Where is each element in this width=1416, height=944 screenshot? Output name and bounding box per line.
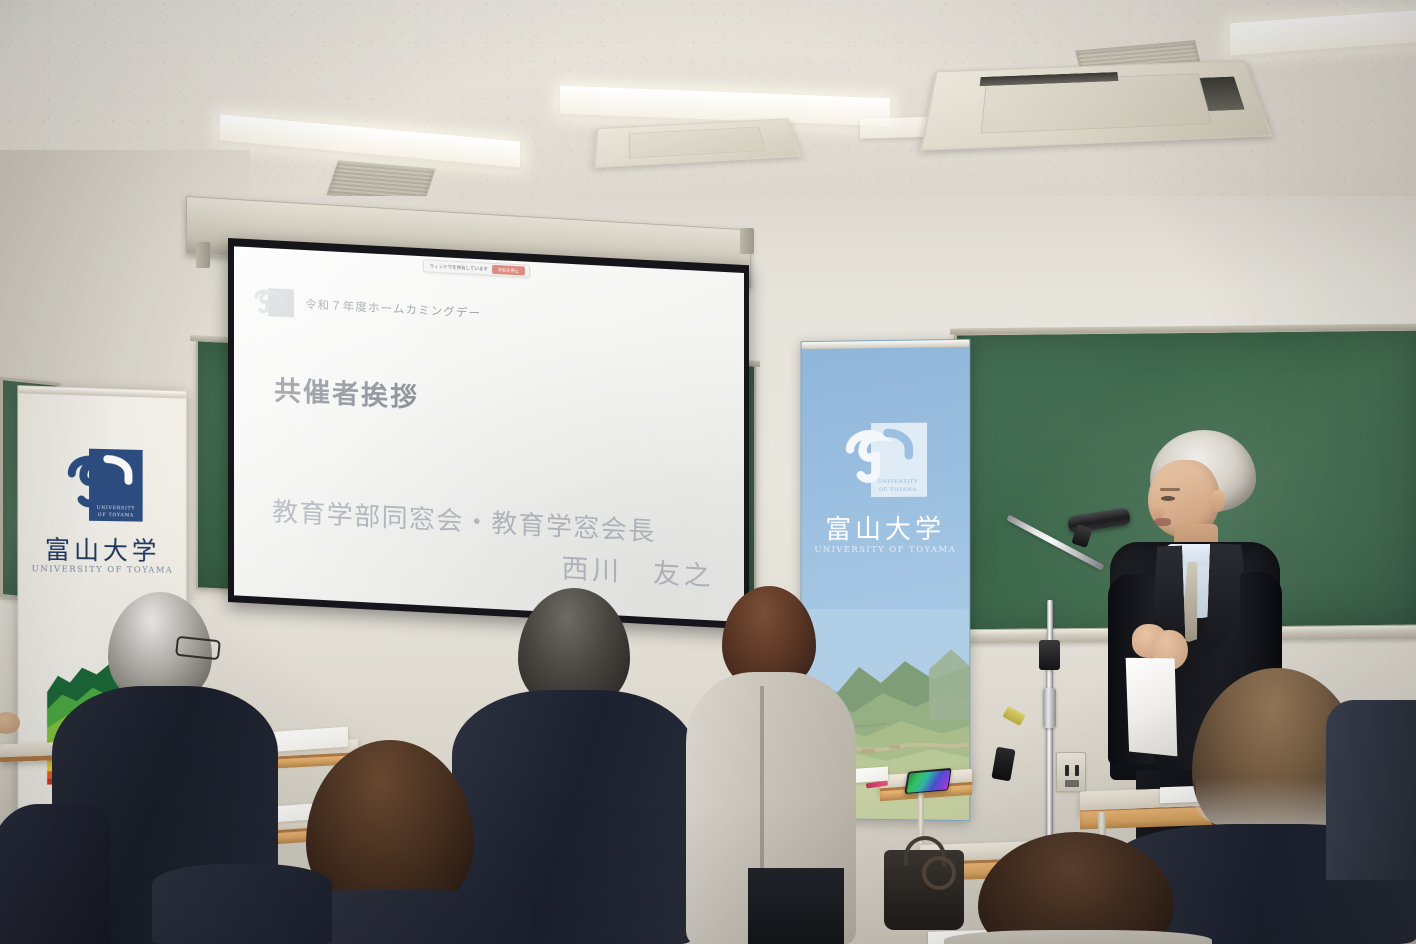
lecture-room-photo: ウィンドウを共有しています 共有を停止 令和７年度ホームカミングデー 共催者挨拶… [0, 0, 1416, 944]
audience-body-8 [152, 864, 332, 944]
stop-sharing-button[interactable]: 共有を停止 [492, 265, 525, 276]
banner-right-name-jp: 富山大学 [802, 509, 970, 547]
speaker-speech-papers [1123, 654, 1182, 759]
audience-3-skirt [748, 868, 844, 944]
bag-handle-2 [922, 856, 956, 890]
outlet-slot-1 [1065, 765, 1069, 776]
smartphone-on-desk [904, 768, 951, 794]
banner-left-name-jp: 富山大学 [18, 530, 185, 568]
slide-organization: 教育学部同窓会・教育学窓会長 [272, 491, 656, 548]
screen-share-label: ウィンドウを共有しています [430, 263, 488, 272]
speaker-nose [1152, 504, 1164, 518]
logo-mark-svg [254, 288, 284, 316]
slide-heading: 共催者挨拶 [274, 368, 419, 415]
outlet-slot-3 [1065, 780, 1079, 787]
wall-outlet [1056, 752, 1086, 792]
toyama-university-logo-icon [252, 286, 294, 318]
screen-bracket-right [740, 228, 754, 254]
ac-vane-right [1200, 76, 1245, 111]
mic-stand-lower-sleeve [1043, 688, 1056, 728]
audience-body-7 [0, 804, 110, 944]
air-conditioner-cassette [920, 60, 1272, 151]
banner-left-logo-icon: UNIVERSITY OF TOYAMA [63, 448, 143, 522]
speaker-mouth [1154, 518, 1171, 526]
screen-bracket-left [196, 242, 210, 268]
banner-right-logo-icon: UNIVERSITY OF TOYAMA [841, 423, 927, 498]
outlet-slot-2 [1075, 765, 1079, 776]
projector-screen: ウィンドウを共有しています 共有を停止 令和７年度ホームカミングデー 共催者挨拶… [228, 238, 749, 629]
audience-5-shoulder [1326, 700, 1416, 880]
banner-right-logo-sub: UNIVERSITY [874, 480, 922, 485]
ac-grille-secondary [629, 126, 765, 158]
banner-left-logo-sub2: OF TOYAMA [93, 513, 139, 519]
speaker-eye [1161, 496, 1175, 501]
screen-share-banner[interactable]: ウィンドウを共有しています 共有を停止 [423, 259, 530, 278]
speaker-ear [1210, 490, 1225, 512]
smartphone-screen [906, 770, 950, 793]
slide-presenter-name: 西川 友之 [562, 546, 715, 593]
banner-right-name-en: UNIVERSITY OF TOYAMA [802, 545, 970, 555]
banner-left-logo-sub: UNIVERSITY [93, 506, 139, 512]
banner-right-logo-sub2: OF TOYAMA [874, 488, 922, 493]
slide-header: 令和７年度ホームカミングデー [252, 286, 481, 328]
audience-body-6 [944, 930, 1212, 944]
slide-header-title: 令和７年度ホームカミングデー [305, 296, 481, 321]
banner-left-name-en: UNIVERSITY OF TOYAMA [18, 564, 185, 576]
banner-right-top-rail [802, 340, 970, 349]
speaker-eyebrow [1160, 488, 1180, 491]
mic-stand-clamp [1039, 640, 1060, 670]
projected-slide: ウィンドウを共有しています 共有を停止 令和７年度ホームカミングデー 共催者挨拶… [234, 246, 744, 622]
audience-3-seam [760, 686, 764, 886]
